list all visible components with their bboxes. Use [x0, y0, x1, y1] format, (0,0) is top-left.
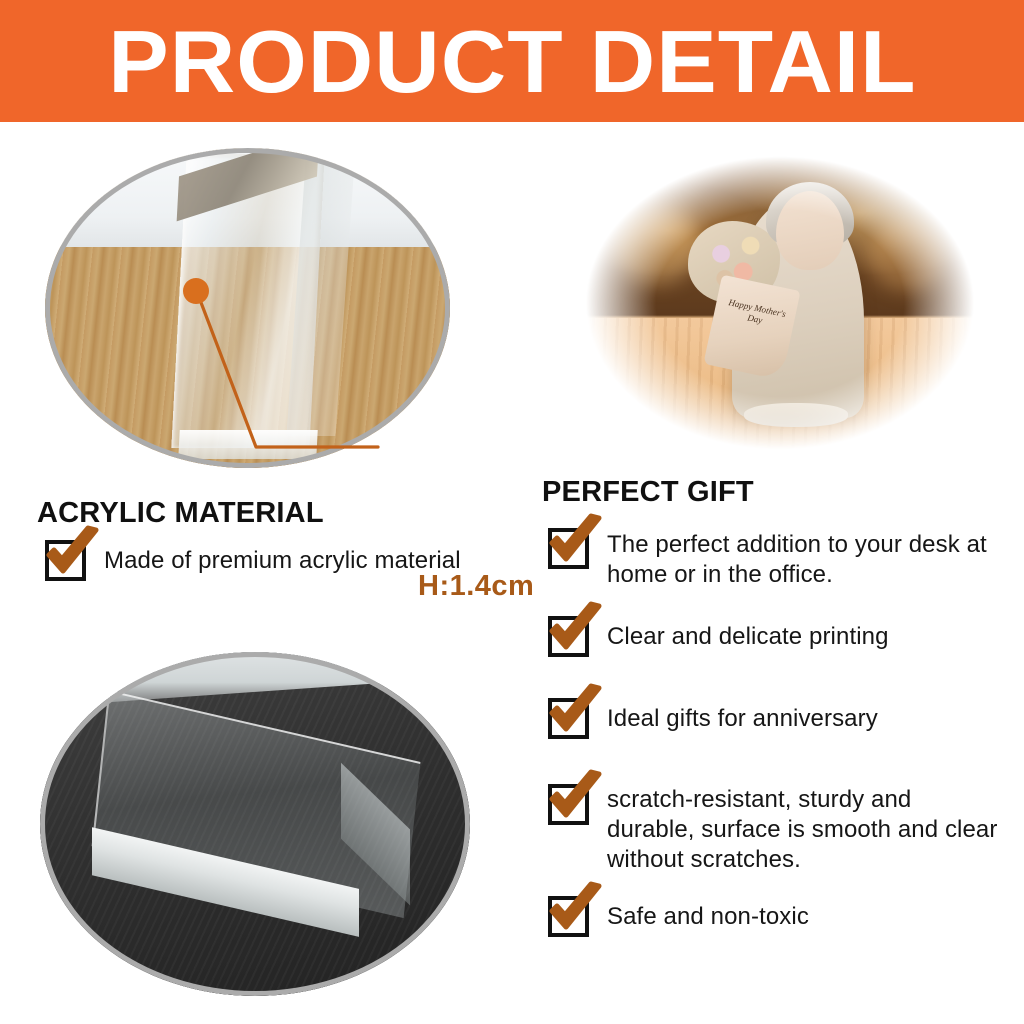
section-heading-perfect-gift: PERFECT GIFT — [542, 476, 754, 509]
acrylic-panel-base — [178, 430, 317, 459]
bokeh-light — [612, 206, 700, 285]
checkmark-icon — [548, 784, 589, 825]
feature-list-item: Ideal gifts for anniversary — [548, 698, 1003, 739]
feature-text: Made of premium acrylic material — [104, 546, 461, 576]
page-title: PRODUCT DETAIL — [108, 18, 916, 106]
acrylic-block-photo — [40, 652, 470, 996]
page-header-banner: PRODUCT DETAIL — [0, 0, 1024, 122]
check-glyph — [547, 604, 603, 657]
checkmark-icon — [548, 616, 589, 657]
checkmark-icon — [548, 896, 589, 937]
feature-list-item: Clear and delicate printing — [548, 616, 1003, 657]
figurine-photo: Happy Mother's Day — [580, 152, 980, 454]
feature-list-item: Safe and non-toxic — [548, 896, 1003, 937]
feature-list-item: The perfect addition to your desk at hom… — [548, 528, 1003, 590]
check-glyph — [547, 772, 603, 825]
figurine-head — [776, 191, 844, 270]
acrylic-edge-photo — [45, 148, 450, 468]
product-detail-page: PRODUCT DETAIL Happy Mother's Day H:1.4c… — [0, 0, 1024, 1024]
feature-text: Ideal gifts for anniversary — [607, 704, 878, 734]
checkmark-icon — [548, 528, 589, 569]
feature-text: The perfect addition to your desk at hom… — [607, 530, 1003, 590]
feature-text: Clear and delicate printing — [607, 622, 889, 652]
feature-text: Safe and non-toxic — [607, 902, 809, 932]
checkmark-icon — [45, 540, 86, 581]
section-heading-acrylic-material: ACRYLIC MATERIAL — [37, 497, 324, 530]
checkmark-icon — [548, 698, 589, 739]
feature-list-item: scratch-resistant, sturdy and durable, s… — [548, 784, 1003, 875]
check-glyph — [547, 686, 603, 739]
check-glyph — [44, 528, 100, 581]
feature-list-item: Made of premium acrylic material — [45, 540, 515, 581]
check-glyph — [547, 516, 603, 569]
figurine-base — [744, 403, 848, 427]
feature-text: scratch-resistant, sturdy and durable, s… — [607, 785, 1003, 875]
bokeh-light — [868, 218, 948, 290]
check-glyph — [547, 884, 603, 937]
